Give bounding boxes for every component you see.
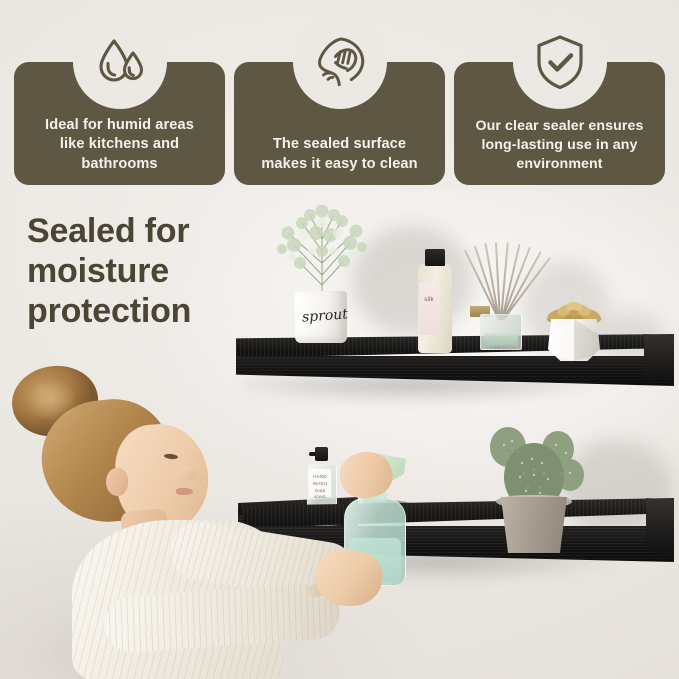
feature-card-humid-areas: Ideal for humid areas like kitchens and … (14, 62, 225, 185)
bottle-cap (425, 249, 445, 266)
feature-card-clear-sealer: Our clear sealer ensures long-lasting us… (454, 62, 665, 185)
feature-card-row: Ideal for humid areas like kitchens and … (14, 62, 665, 185)
amber-bottle: silk (418, 249, 452, 353)
feature-card-text: The sealed surface makes it easy to clea… (249, 135, 429, 174)
cactus-concrete-pot (478, 425, 588, 553)
feature-card-text: Our clear sealer ensures long-lasting us… (463, 117, 655, 174)
cactus-pot (498, 497, 570, 553)
diffuser-jar (480, 314, 522, 350)
fern-pot: sprout (295, 291, 347, 343)
bottle-label: silk (419, 283, 439, 335)
diffuser-liquid (484, 333, 518, 346)
hand-wiping-cloth-icon (293, 15, 387, 109)
girl-mouth (176, 488, 193, 495)
reed-diffuser (458, 228, 542, 354)
fern-foliage (270, 205, 374, 301)
feature-card-text: Ideal for humid areas like kitchens and … (33, 116, 206, 174)
succulent-pot (548, 319, 600, 361)
shield-check-icon (513, 15, 607, 109)
girl-nose (180, 466, 196, 480)
gold-succulent-faceted-pot (538, 297, 610, 361)
shelf-upper-side-cap (644, 334, 674, 382)
spray-bottle-liquid (349, 538, 401, 582)
product-infographic: Ideal for humid areas like kitchens and … (0, 0, 679, 679)
girl-ear (106, 468, 128, 496)
spray-bottle-trigger (352, 452, 406, 490)
spray-bottle-body (344, 498, 406, 586)
bottle-label-text: silk (419, 297, 439, 303)
water-droplets-icon (73, 15, 167, 109)
feature-card-easy-to-clean: The sealed surface makes it easy to clea… (234, 62, 445, 185)
shelf-lower-side-cap (646, 498, 674, 556)
spray-bottle (336, 452, 414, 588)
fern-pot-script-text: sprout (301, 306, 348, 325)
potted-fern: sprout (268, 205, 376, 347)
page-title: Sealed for moisture protection (27, 212, 267, 331)
